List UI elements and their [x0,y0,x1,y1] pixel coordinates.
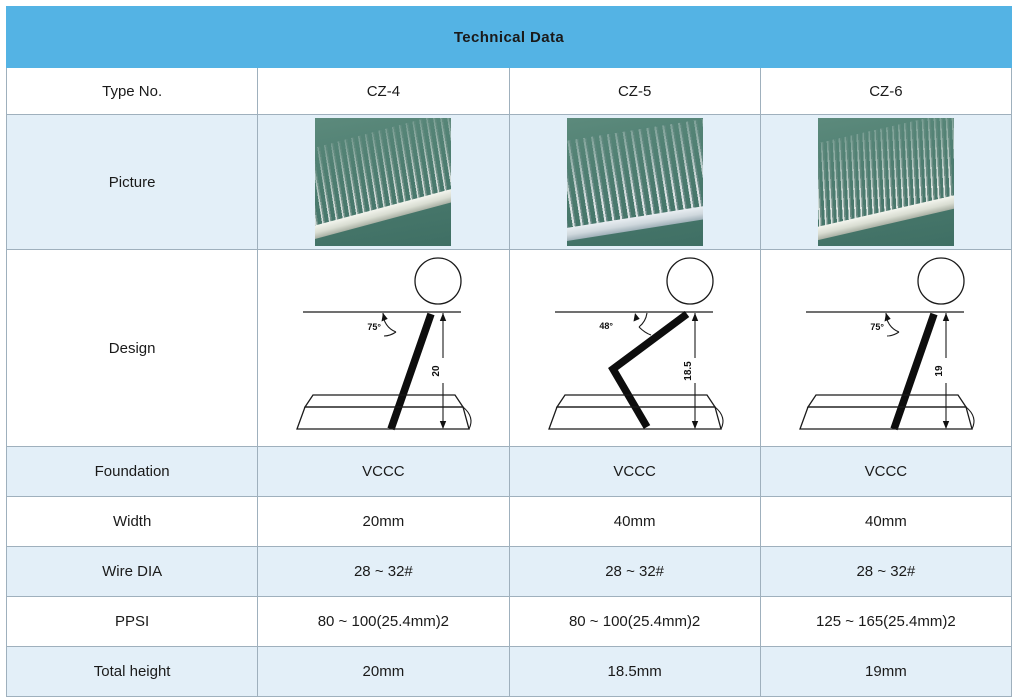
dimension-arrow-top [691,313,697,321]
cell-picture-cz5 [509,115,760,250]
cell-wire-dia-cz5: 28 ~ 32# [509,547,760,597]
cell-width-cz4: 20mm [258,497,509,547]
product-photo-cz6 [818,118,954,246]
cell-design-cz5: 18.548° [509,250,760,447]
wire-section-circle [918,258,964,304]
dimension-label: 18.5 [683,361,694,381]
bristle-wire [391,314,431,429]
banner-title: Technical Data [7,7,1012,68]
dimension-arrow-top [943,313,949,321]
base-top-face [305,395,463,407]
row-label-total-height: Total height [7,647,258,697]
cell-wire-dia-cz4: 28 ~ 32# [258,547,509,597]
design-drawing: 1975° [786,255,986,441]
photo-wrap-cz4 [258,115,508,249]
cell-total-height-cz6: 19mm [760,647,1011,697]
dimension-arrow-bottom [440,421,446,429]
dimension-arrow-bottom [943,421,949,429]
angle-label: 75° [368,322,382,332]
design-wrap-cz4: 2075° [258,250,508,446]
cell-picture-cz6 [760,115,1011,250]
cell-type-no-cz5: CZ-5 [509,68,760,115]
cell-ppsi-cz4: 80 ~ 100(25.4mm)2 [258,597,509,647]
bristle-wire [894,314,934,429]
table-row-design: Design 2075° 18.548° 1975° [7,250,1012,447]
cell-foundation-cz4: VCCC [258,447,509,497]
bristle-wire [613,314,687,427]
design-drawing: 18.548° [535,255,735,441]
table-row-type-no: Type No. CZ-4 CZ-5 CZ-6 [7,68,1012,115]
row-label-picture: Picture [7,115,258,250]
angle-label: 75° [870,322,884,332]
technical-data-table: Technical Data Type No. CZ-4 CZ-5 CZ-6 P… [6,6,1012,697]
cell-picture-cz4 [258,115,509,250]
dimension-label: 19 [934,365,945,377]
table-row-wire-dia: Wire DIA 28 ~ 32# 28 ~ 32# 28 ~ 32# [7,547,1012,597]
table-row-foundation: Foundation VCCC VCCC VCCC [7,447,1012,497]
angle-arc [639,313,647,327]
design-wrap-cz6: 1975° [761,250,1011,446]
cell-design-cz4: 2075° [258,250,509,447]
cell-foundation-cz6: VCCC [760,447,1011,497]
banner-row: Technical Data [7,7,1012,68]
base-top-face [808,395,966,407]
row-label-width: Width [7,497,258,547]
row-label-ppsi: PPSI [7,597,258,647]
product-photo-cz5 [567,118,703,246]
angle-arrow [633,313,639,322]
wire-section-circle [415,258,461,304]
dimension-arrow-top [440,313,446,321]
angle-label: 48° [599,321,613,331]
photo-wrap-cz5 [510,115,760,249]
angle-leader [384,332,396,336]
cell-type-no-cz4: CZ-4 [258,68,509,115]
dimension-arrow-bottom [691,421,697,429]
table-row-width: Width 20mm 40mm 40mm [7,497,1012,547]
cell-width-cz6: 40mm [760,497,1011,547]
dimension-label: 20 [431,365,442,377]
wire-section-circle [667,258,713,304]
design-wrap-cz5: 18.548° [510,250,760,446]
table-row-ppsi: PPSI 80 ~ 100(25.4mm)2 80 ~ 100(25.4mm)2… [7,597,1012,647]
row-label-design: Design [7,250,258,447]
table-row-picture: Picture [7,115,1012,250]
cell-type-no-cz6: CZ-6 [760,68,1011,115]
angle-leader [639,327,651,335]
photo-wrap-cz6 [761,115,1011,249]
cell-ppsi-cz5: 80 ~ 100(25.4mm)2 [509,597,760,647]
cell-total-height-cz5: 18.5mm [509,647,760,697]
cell-width-cz5: 40mm [509,497,760,547]
row-label-type-no: Type No. [7,68,258,115]
cell-ppsi-cz6: 125 ~ 165(25.4mm)2 [760,597,1011,647]
row-label-foundation: Foundation [7,447,258,497]
cell-total-height-cz4: 20mm [258,647,509,697]
row-label-wire-dia: Wire DIA [7,547,258,597]
angle-leader [887,332,899,336]
cell-foundation-cz5: VCCC [509,447,760,497]
cell-wire-dia-cz6: 28 ~ 32# [760,547,1011,597]
technical-data-sheet: Technical Data Type No. CZ-4 CZ-5 CZ-6 P… [0,0,1024,698]
cell-design-cz6: 1975° [760,250,1011,447]
product-photo-cz4 [315,118,451,246]
table-row-total-height: Total height 20mm 18.5mm 19mm [7,647,1012,697]
design-drawing: 2075° [283,255,483,441]
